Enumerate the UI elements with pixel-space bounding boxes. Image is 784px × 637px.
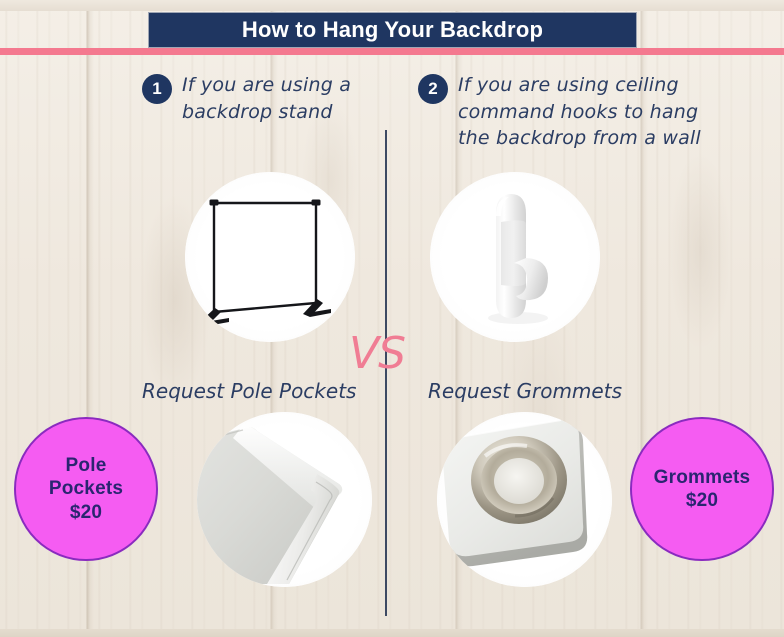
bubble-left-line1: Pole (49, 454, 123, 477)
step-1-number-badge: 1 (142, 74, 172, 104)
infographic-canvas: How to Hang Your Backdrop 1 If you are u… (0, 0, 784, 637)
grommet-illustration (437, 412, 612, 587)
price-bubble-pole-pockets[interactable]: Pole Pockets $20 (14, 417, 158, 561)
caption-grommets: Request Grommets (428, 379, 622, 403)
pole-pocket-illustration (197, 412, 372, 587)
versus-label: VS (349, 332, 405, 376)
price-bubble-grommets[interactable]: Grommets $20 (630, 417, 774, 561)
step-2-text: If you are using ceiling command hooks t… (458, 72, 723, 152)
bubble-left-line2: Pockets (49, 477, 123, 500)
pole-pocket-fabric-photo (197, 412, 372, 587)
step-2-number-badge: 2 (418, 74, 448, 104)
title-underline-rule (0, 48, 784, 55)
step-2-heading: 2 If you are using ceiling command hooks… (418, 72, 723, 152)
bubble-right-line1: Grommets (654, 466, 751, 489)
bubble-left-price: $20 (49, 501, 123, 524)
command-hook-photo (430, 172, 600, 342)
page-title: How to Hang Your Backdrop (242, 17, 543, 43)
step-1-text: If you are using a backdrop stand (182, 72, 377, 125)
background-bottom-edge (0, 629, 784, 637)
step-1-heading: 1 If you are using a backdrop stand (142, 72, 377, 125)
page-title-bar: How to Hang Your Backdrop (148, 12, 637, 48)
metal-grommet-photo (437, 412, 612, 587)
command-hook-illustration (430, 172, 600, 342)
price-bubble-left-text: Pole Pockets $20 (49, 454, 123, 524)
price-bubble-right-text: Grommets $20 (654, 466, 751, 512)
backdrop-stand-illustration (185, 172, 355, 342)
bubble-right-price: $20 (654, 489, 751, 512)
caption-pole-pockets: Request Pole Pockets (142, 379, 356, 403)
background-top-edge (0, 0, 784, 11)
backdrop-stand-photo (185, 172, 355, 342)
